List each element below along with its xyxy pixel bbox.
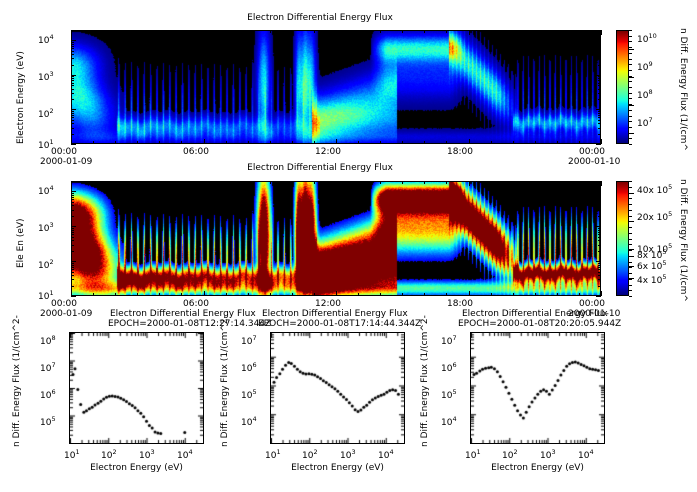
axis-tick bbox=[71, 128, 74, 129]
axis-tick bbox=[598, 205, 601, 206]
axis-tick bbox=[469, 30, 470, 35]
axis-tick bbox=[380, 30, 381, 33]
spectrum-3-plot[interactable] bbox=[470, 332, 605, 444]
axis-tick bbox=[71, 54, 74, 55]
axis-tick bbox=[71, 93, 74, 94]
axis-tick bbox=[598, 58, 601, 59]
spectrum-3-epoch: EPOCH=2000-01-08T20:20:05.944Z bbox=[458, 319, 606, 329]
colorbar-tick-minor bbox=[629, 239, 632, 240]
ytick-top-3: 103 bbox=[38, 70, 54, 83]
axis-tick bbox=[71, 286, 74, 287]
xtick-sp3-4: 104 bbox=[578, 448, 594, 461]
colorbar-tick-minor bbox=[629, 244, 632, 245]
axis-tick bbox=[71, 202, 74, 203]
colorbar-tick-minor bbox=[629, 133, 632, 134]
colorbar-tick-minor bbox=[629, 64, 632, 65]
axis-tick bbox=[402, 30, 403, 33]
axis-tick bbox=[71, 58, 74, 59]
axis-tick bbox=[71, 109, 76, 110]
axis-tick bbox=[71, 226, 76, 227]
axis-tick bbox=[491, 181, 492, 184]
colorbar-tick-minor bbox=[629, 59, 632, 60]
colorbar-tick-minor bbox=[629, 221, 632, 222]
colorbar-tick-minor bbox=[629, 98, 632, 99]
colorbar-tick-minor bbox=[629, 279, 632, 280]
axis-tick bbox=[292, 293, 293, 296]
axis-tick bbox=[596, 144, 601, 145]
cbtick-top-1e8: 108 bbox=[637, 88, 653, 101]
axis-tick bbox=[270, 181, 271, 184]
spectrum-2-title: Electron Differential Energy Flux bbox=[262, 309, 402, 319]
colorbar-tick-minor bbox=[629, 87, 632, 88]
xtick-sp1-2: 102 bbox=[101, 448, 117, 461]
axis-tick bbox=[598, 286, 601, 287]
axis-tick bbox=[598, 265, 601, 266]
axis-tick bbox=[596, 75, 601, 76]
colorbar-tick-minor bbox=[629, 93, 632, 94]
xtick-sp3-2: 102 bbox=[502, 448, 518, 461]
xtick-sp1-1: 101 bbox=[64, 448, 80, 461]
axis-tick bbox=[248, 30, 249, 33]
axis-tick bbox=[598, 48, 601, 49]
axis-tick bbox=[598, 216, 601, 217]
axis-tick bbox=[358, 141, 359, 144]
axis-tick bbox=[115, 30, 116, 33]
axis-tick bbox=[598, 83, 601, 84]
colorbar-tick bbox=[629, 105, 634, 106]
axis-tick bbox=[598, 251, 601, 252]
axis-tick bbox=[380, 181, 381, 184]
axis-tick bbox=[248, 141, 249, 144]
axis-tick bbox=[71, 296, 76, 297]
colorbar-tick bbox=[629, 77, 634, 78]
axis-tick bbox=[159, 141, 160, 144]
axis-tick bbox=[181, 30, 182, 33]
axis-tick bbox=[71, 191, 76, 192]
axis-tick bbox=[596, 191, 601, 192]
axis-tick bbox=[159, 30, 160, 33]
axis-tick bbox=[71, 228, 74, 229]
axis-tick bbox=[93, 30, 94, 33]
ytick-sp1-8: 108 bbox=[40, 334, 56, 347]
axis-tick bbox=[380, 293, 381, 296]
xtick-sp1-4: 104 bbox=[177, 448, 193, 461]
colorbar-tick-minor bbox=[629, 296, 632, 297]
axis-tick bbox=[535, 181, 536, 184]
axis-tick bbox=[71, 195, 74, 196]
axis-tick bbox=[469, 181, 470, 186]
axis-tick bbox=[446, 293, 447, 296]
axis-tick bbox=[71, 30, 72, 35]
axis-tick bbox=[598, 54, 601, 55]
axis-tick bbox=[71, 78, 74, 79]
spectrum-3-ylabel: n Diff. Energy Flux (1/(cm^2- bbox=[420, 315, 430, 447]
axis-tick bbox=[71, 42, 74, 43]
colorbar-tick-minor bbox=[629, 290, 632, 291]
colorbar-bottom-label: n Diff. Energy Flux (1/(cm^ bbox=[678, 179, 688, 302]
axis-tick bbox=[513, 141, 514, 144]
axis-tick bbox=[226, 141, 227, 144]
axis-tick bbox=[535, 30, 536, 33]
axis-tick bbox=[336, 139, 337, 144]
colorbar-tick-minor bbox=[629, 204, 632, 205]
colorbar-tick-minor bbox=[629, 70, 632, 71]
colorbar-tick-minor bbox=[629, 144, 632, 145]
colorbar-tick-minor bbox=[629, 285, 632, 286]
axis-tick bbox=[402, 181, 403, 184]
colorbar-tick-minor bbox=[629, 53, 632, 54]
axis-tick bbox=[204, 30, 205, 35]
axis-tick bbox=[71, 279, 74, 280]
axis-tick bbox=[598, 230, 601, 231]
axis-tick bbox=[598, 202, 601, 203]
axis-tick bbox=[579, 181, 580, 184]
axis-tick bbox=[71, 216, 74, 217]
axis-tick bbox=[535, 141, 536, 144]
axis-tick bbox=[601, 139, 602, 144]
cbtick-bot-40e5: 40x 105 bbox=[637, 183, 672, 196]
axis-tick bbox=[579, 293, 580, 296]
spectrum-3-title: Electron Differential Energy Flux bbox=[462, 309, 602, 319]
colorbar-tick-minor bbox=[629, 210, 632, 211]
axis-tick bbox=[469, 291, 470, 296]
axis-tick bbox=[248, 181, 249, 184]
spectrogram-bottom-title: Electron Differential Energy Flux bbox=[0, 163, 640, 173]
axis-tick bbox=[71, 85, 74, 86]
axis-tick bbox=[71, 40, 76, 41]
axis-tick bbox=[598, 44, 601, 45]
colorbar-tick-minor bbox=[629, 81, 632, 82]
axis-tick bbox=[358, 293, 359, 296]
axis-tick bbox=[513, 30, 514, 33]
axis-tick bbox=[71, 205, 74, 206]
axis-tick bbox=[71, 46, 74, 47]
cbtick-bot-6e5: 6x 105 bbox=[637, 259, 667, 272]
colorbar-tick-minor bbox=[629, 30, 632, 31]
colorbar-tick-minor bbox=[629, 273, 632, 274]
xtick-bot-3: 18:00 bbox=[447, 299, 473, 309]
axis-tick bbox=[71, 240, 74, 241]
colorbar-tick-minor bbox=[629, 256, 632, 257]
axis-tick bbox=[557, 30, 558, 33]
axis-tick bbox=[598, 263, 601, 264]
axis-tick bbox=[71, 75, 76, 76]
axis-tick bbox=[598, 234, 601, 235]
axis-tick bbox=[598, 93, 601, 94]
axis-tick bbox=[181, 141, 182, 144]
cbtick-top-1e10: 1010 bbox=[637, 32, 657, 45]
axis-tick bbox=[491, 141, 492, 144]
axis-tick bbox=[557, 141, 558, 144]
axis-tick bbox=[270, 30, 271, 33]
ytick-sp3-6: 106 bbox=[441, 361, 457, 374]
axis-tick bbox=[598, 65, 601, 66]
axis-tick bbox=[596, 261, 601, 262]
colorbar-tick-minor bbox=[629, 110, 632, 111]
axis-tick bbox=[424, 181, 425, 184]
axis-tick bbox=[93, 293, 94, 296]
axis-tick bbox=[71, 48, 74, 49]
ytick-sp2-4: 104 bbox=[241, 415, 257, 428]
ytick-sp3-5: 105 bbox=[441, 388, 457, 401]
axis-tick bbox=[513, 181, 514, 184]
axis-tick bbox=[71, 267, 74, 268]
axis-tick bbox=[292, 30, 293, 33]
axis-tick bbox=[598, 237, 601, 238]
colorbar-top-label: n Diff. Energy Flux (1/(cm^ bbox=[678, 28, 688, 151]
axis-tick bbox=[402, 293, 403, 296]
axis-tick bbox=[598, 113, 601, 114]
axis-tick bbox=[71, 99, 74, 100]
axis-tick bbox=[598, 193, 601, 194]
axis-tick bbox=[71, 89, 74, 90]
colorbar-tick-minor bbox=[629, 121, 632, 122]
axis-tick bbox=[71, 265, 74, 266]
axis-tick bbox=[598, 99, 601, 100]
axis-tick bbox=[598, 89, 601, 90]
axis-tick bbox=[598, 128, 601, 129]
spectrum-1-plot[interactable] bbox=[69, 332, 204, 444]
axis-tick bbox=[380, 141, 381, 144]
axis-tick bbox=[598, 80, 601, 81]
axis-tick bbox=[71, 245, 74, 246]
axis-tick bbox=[601, 181, 602, 186]
axis-tick bbox=[598, 210, 601, 211]
ytick-sp2-7: 107 bbox=[241, 334, 257, 347]
colorbar-tick-minor bbox=[629, 41, 632, 42]
xtick-top-2: 12:00 bbox=[315, 147, 341, 157]
colorbar-tick-minor bbox=[629, 187, 632, 188]
axis-tick bbox=[557, 181, 558, 184]
axis-tick bbox=[596, 109, 601, 110]
axis-tick bbox=[336, 291, 337, 296]
axis-tick bbox=[71, 139, 72, 144]
axis-tick bbox=[137, 181, 138, 184]
axis-tick bbox=[71, 230, 74, 231]
axis-tick bbox=[446, 181, 447, 184]
colorbar-tick-minor bbox=[629, 181, 632, 182]
axis-tick bbox=[535, 293, 536, 296]
axis-tick bbox=[513, 293, 514, 296]
spectrum-2-ylabel: n Diff. Energy Flux (1/(cm^2- bbox=[220, 315, 230, 447]
colorbar-tick-minor bbox=[629, 227, 632, 228]
colorbar-tick-minor bbox=[629, 47, 632, 48]
axis-tick bbox=[598, 120, 601, 121]
xtick-sp2-2: 102 bbox=[302, 448, 318, 461]
xtick-top-0: 00:00 bbox=[51, 147, 77, 157]
axis-tick bbox=[336, 30, 337, 35]
axis-tick bbox=[93, 181, 94, 184]
axis-tick bbox=[71, 134, 74, 135]
spectrogram-bottom-plot[interactable] bbox=[71, 181, 601, 296]
axis-tick bbox=[557, 293, 558, 296]
ytick-sp1-5: 105 bbox=[40, 415, 56, 428]
axis-tick bbox=[204, 291, 205, 296]
xtick-sp2-3: 103 bbox=[340, 448, 356, 461]
axis-tick bbox=[71, 269, 74, 270]
axis-tick bbox=[71, 113, 74, 114]
axis-tick bbox=[71, 275, 74, 276]
axis-tick bbox=[469, 139, 470, 144]
axis-tick bbox=[314, 181, 315, 184]
xtick-top-3: 18:00 bbox=[447, 147, 473, 157]
colorbar-tick bbox=[629, 49, 634, 50]
xtick-sp1-3: 103 bbox=[139, 448, 155, 461]
colorbar-tick-minor bbox=[629, 216, 632, 217]
colorbar-top[interactable] bbox=[616, 30, 629, 144]
axis-tick bbox=[115, 181, 116, 184]
axis-tick bbox=[596, 226, 601, 227]
axis-tick bbox=[598, 197, 601, 198]
axis-tick bbox=[71, 144, 76, 145]
axis-tick bbox=[358, 30, 359, 33]
colorbar-bottom[interactable] bbox=[616, 181, 629, 296]
axis-tick bbox=[598, 279, 601, 280]
colorbar-tick-minor bbox=[629, 104, 632, 105]
axis-tick bbox=[598, 46, 601, 47]
axis-tick bbox=[226, 181, 227, 184]
axis-tick bbox=[336, 181, 337, 186]
spectrum-3-xlabel: Electron Energy (eV) bbox=[470, 463, 605, 473]
axis-tick bbox=[71, 44, 74, 45]
axis-tick bbox=[71, 193, 74, 194]
xtick-sp2-1: 101 bbox=[265, 448, 281, 461]
axis-tick bbox=[579, 141, 580, 144]
axis-tick bbox=[424, 141, 425, 144]
axis-tick bbox=[204, 181, 205, 186]
axis-tick bbox=[314, 141, 315, 144]
axis-tick bbox=[226, 293, 227, 296]
axis-tick bbox=[137, 293, 138, 296]
axis-tick bbox=[159, 181, 160, 184]
axis-tick bbox=[598, 195, 601, 196]
axis-tick bbox=[598, 76, 601, 77]
xtick-top-1: 06:00 bbox=[183, 147, 209, 157]
axis-tick bbox=[424, 30, 425, 33]
axis-tick bbox=[601, 30, 602, 35]
xtick-bot-0: 00:00 bbox=[51, 299, 77, 309]
cbtick-top-1e7: 107 bbox=[637, 116, 653, 129]
colorbar-tick-minor bbox=[629, 127, 632, 128]
colorbar-tick-minor bbox=[629, 138, 632, 139]
spectrogram-bottom-ylabel: Ele En (eV) bbox=[16, 218, 26, 268]
axis-tick bbox=[71, 76, 74, 77]
axis-tick bbox=[71, 199, 74, 200]
axis-tick bbox=[598, 115, 601, 116]
cbtick-top-1e9: 109 bbox=[637, 60, 653, 73]
axis-tick bbox=[137, 30, 138, 33]
ytick-bot-3: 103 bbox=[38, 221, 54, 234]
axis-tick bbox=[579, 30, 580, 33]
colorbar-tick-minor bbox=[629, 76, 632, 77]
axis-tick bbox=[598, 232, 601, 233]
spectrum-2-epoch: EPOCH=2000-01-08T17:14:44.344Z bbox=[258, 319, 406, 329]
axis-tick bbox=[491, 293, 492, 296]
ytick-sp1-7: 107 bbox=[40, 361, 56, 374]
spectrum-1-ylabel: n Diff. Energy Flux (1/(cm^2- bbox=[12, 315, 22, 447]
axis-tick bbox=[598, 51, 601, 52]
axis-tick bbox=[598, 272, 601, 273]
axis-tick bbox=[598, 267, 601, 268]
ytick-bot-4: 104 bbox=[38, 184, 54, 197]
axis-tick bbox=[601, 291, 602, 296]
axis-tick bbox=[115, 141, 116, 144]
axis-tick bbox=[71, 197, 74, 198]
axis-tick bbox=[93, 141, 94, 144]
axis-tick bbox=[71, 80, 74, 81]
axis-tick bbox=[292, 141, 293, 144]
cbtick-bot-20e5: 20x 105 bbox=[637, 210, 672, 223]
axis-tick bbox=[424, 293, 425, 296]
ytick-sp2-6: 106 bbox=[241, 361, 257, 374]
axis-tick bbox=[314, 293, 315, 296]
axis-tick bbox=[71, 117, 74, 118]
ytick-top-4: 104 bbox=[38, 33, 54, 46]
axis-tick bbox=[71, 251, 74, 252]
axis-tick bbox=[358, 181, 359, 184]
axis-tick bbox=[598, 245, 601, 246]
axis-tick bbox=[598, 117, 601, 118]
axis-tick bbox=[71, 263, 74, 264]
axis-tick bbox=[598, 134, 601, 135]
axis-tick bbox=[181, 181, 182, 184]
colorbar-tick-minor bbox=[629, 36, 632, 37]
axis-tick bbox=[115, 293, 116, 296]
axis-tick bbox=[598, 275, 601, 276]
ytick-top-2: 102 bbox=[38, 107, 54, 120]
axis-tick bbox=[598, 111, 601, 112]
axis-tick bbox=[71, 115, 74, 116]
axis-tick bbox=[71, 51, 74, 52]
colorbar-tick-minor bbox=[629, 116, 632, 117]
spectrogram-top-plot[interactable] bbox=[71, 30, 601, 144]
axis-tick bbox=[598, 240, 601, 241]
axis-tick bbox=[71, 291, 72, 296]
spectrum-2-plot[interactable] bbox=[270, 332, 405, 444]
cbtick-bot-4e5: 4x 105 bbox=[637, 273, 667, 286]
axis-tick bbox=[71, 237, 74, 238]
axis-tick bbox=[71, 181, 72, 186]
axis-tick bbox=[270, 141, 271, 144]
colorbar-tick-minor bbox=[629, 262, 632, 263]
axis-tick bbox=[491, 30, 492, 33]
axis-tick bbox=[598, 269, 601, 270]
xtick-bot-date-left: 2000-01-09 bbox=[40, 309, 92, 319]
spectrogram-top-title: Electron Differential Energy Flux bbox=[0, 13, 640, 23]
xtick-sp3-3: 103 bbox=[540, 448, 556, 461]
axis-tick bbox=[598, 85, 601, 86]
colorbar-tick-minor bbox=[629, 193, 632, 194]
axis-tick bbox=[314, 30, 315, 33]
axis-tick bbox=[71, 123, 74, 124]
axis-tick bbox=[71, 232, 74, 233]
axis-tick bbox=[137, 141, 138, 144]
axis-tick bbox=[226, 30, 227, 33]
xtick-bot-1: 06:00 bbox=[183, 299, 209, 309]
spectrum-2-xlabel: Electron Energy (eV) bbox=[270, 463, 405, 473]
axis-tick bbox=[596, 296, 601, 297]
ytick-bot-2: 102 bbox=[38, 258, 54, 271]
colorbar-tick-minor bbox=[629, 267, 632, 268]
axis-tick bbox=[71, 210, 74, 211]
xtick-bot-2: 12:00 bbox=[315, 299, 341, 309]
colorbar-tick-minor bbox=[629, 198, 632, 199]
xtick-top-4: 00:00 bbox=[579, 147, 605, 157]
axis-tick bbox=[159, 293, 160, 296]
ytick-sp2-5: 105 bbox=[241, 388, 257, 401]
axis-tick bbox=[248, 293, 249, 296]
axis-tick bbox=[598, 42, 601, 43]
